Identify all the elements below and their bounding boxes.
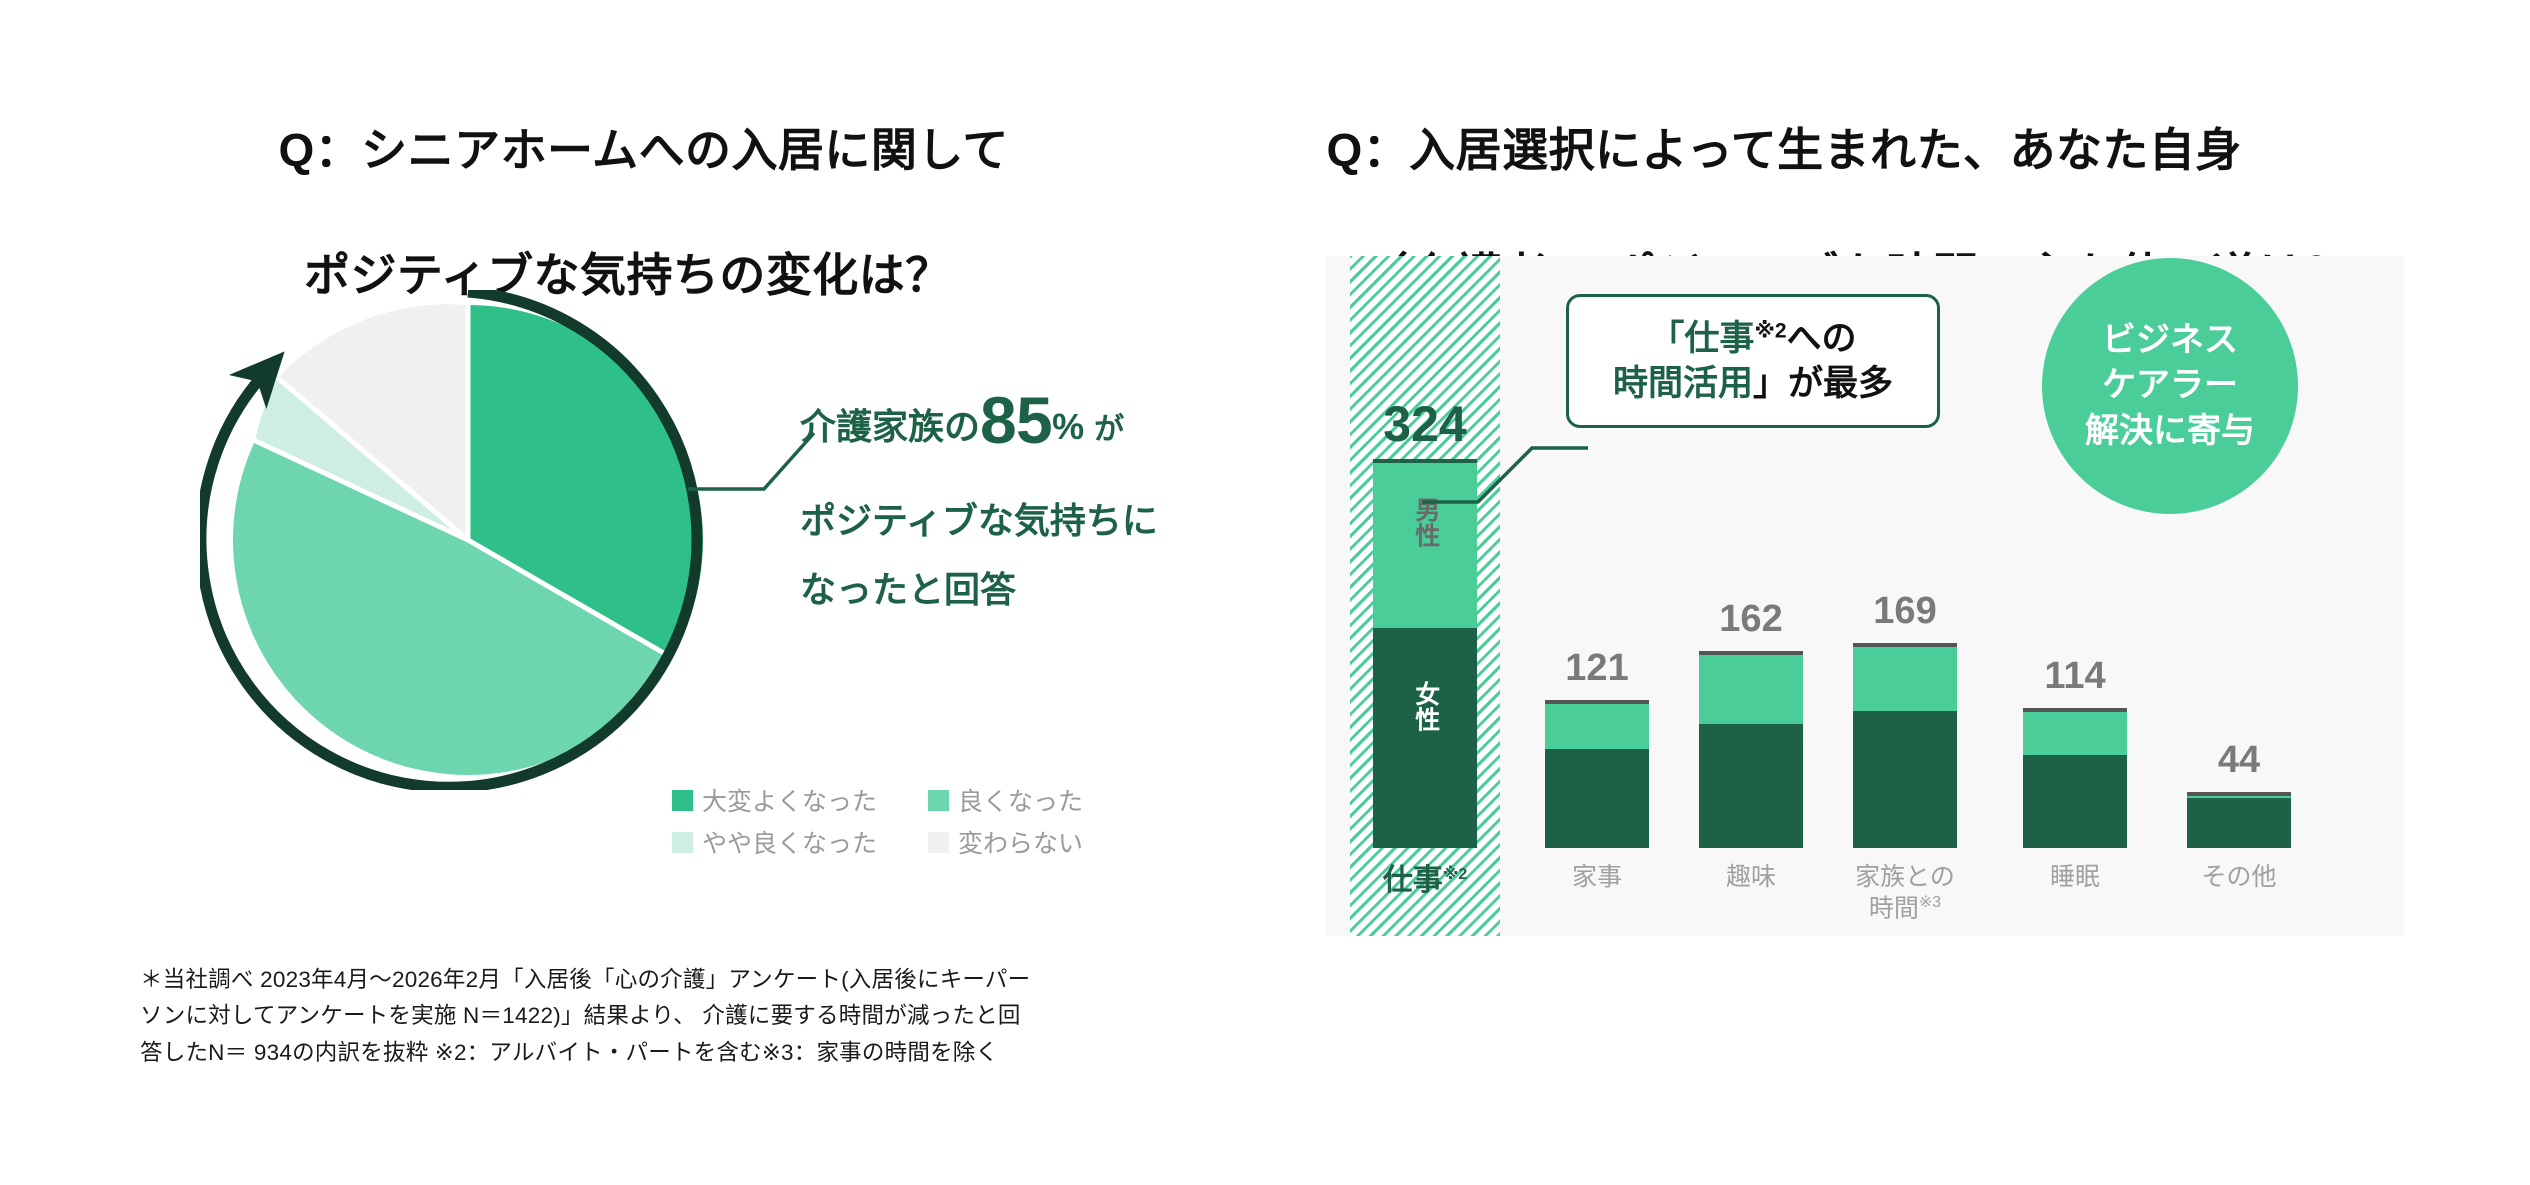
bar-category-label: 趣味 bbox=[1726, 862, 1776, 936]
bar-value-label: 169 bbox=[1873, 590, 1936, 633]
badge-line-2: ケアラー bbox=[2102, 363, 2238, 409]
bar-segment-male bbox=[1545, 704, 1649, 749]
legend-item-slightly-improved: やや良くなった bbox=[672, 824, 896, 860]
annotation-suffix: が bbox=[1094, 413, 1124, 446]
bar-segment-male bbox=[1699, 655, 1803, 724]
legend-item-unchanged: 変わらない bbox=[928, 824, 1102, 860]
bar-stack bbox=[1545, 704, 1649, 848]
pie-legend: 大変よくなった 良くなった やや良くなった 変わらない bbox=[672, 782, 1102, 860]
badge-line-1: ビジネス bbox=[2102, 318, 2238, 364]
legend-swatch-unchanged bbox=[928, 832, 949, 853]
annotation-big-number: 85 bbox=[980, 383, 1052, 457]
legend-label-unchanged: 変わらない bbox=[958, 824, 1083, 860]
circle-badge: ビジネス ケアラー 解決に寄与 bbox=[2042, 258, 2298, 514]
legend-item-very-improved: 大変よくなった bbox=[672, 782, 896, 818]
legend-swatch-slightly-improved bbox=[672, 832, 693, 853]
bar-segment-female bbox=[1545, 749, 1649, 848]
bar-segment-female bbox=[1699, 724, 1803, 848]
bar-value-label: 114 bbox=[2044, 655, 2105, 698]
footnote-line-1: ＊当社調べ 2023年4月〜2026年2月「入居後「心の介護」アンケート(入居後… bbox=[140, 962, 1260, 998]
bar-segment-female bbox=[2187, 798, 2291, 848]
legend-label-very-improved: 大変よくなった bbox=[702, 782, 877, 818]
bar-category-label: 仕事※2 bbox=[1383, 862, 1467, 936]
callout-leader-line bbox=[1420, 420, 1590, 520]
legend-swatch-very-improved bbox=[672, 790, 693, 811]
annotation-line2: ポジティブな気持ちに bbox=[800, 494, 1270, 549]
footnote-line-3: 答したN＝ 934の内訳を抜粋 ※2：アルバイト・パートを含む※3：家事の時間を… bbox=[140, 1035, 1260, 1071]
bar-segment-female: 女性 bbox=[1373, 628, 1477, 848]
callout-line1-b: への bbox=[1787, 319, 1857, 358]
callout-line-2: 時間活用」が最多 bbox=[1613, 361, 1893, 407]
bar-value-label: 44 bbox=[2218, 739, 2260, 782]
bar-column-1: 324男性女性仕事※2 bbox=[1350, 256, 1500, 936]
bar-label-footnote-marker: ※2 bbox=[1443, 866, 1467, 883]
title-right-line1: Q：入居選択によって生まれた、あなた自身 bbox=[1326, 124, 2241, 176]
footnote-line-2: ソンに対してアンケートを実施 N＝1422)」結果より、 介護に要する時間が減っ… bbox=[140, 998, 1260, 1034]
bar-stack bbox=[1699, 655, 1803, 848]
footnote: ＊当社調べ 2023年4月〜2026年2月「入居後「心の介護」アンケート(入居後… bbox=[140, 962, 1260, 1071]
bar-segment-label-female: 女性 bbox=[1411, 663, 1439, 732]
legend-swatch-improved bbox=[928, 790, 949, 811]
pie-chart-svg bbox=[200, 290, 740, 790]
callout-line2-b: 」が最多 bbox=[1753, 364, 1893, 403]
pie-chart bbox=[200, 290, 740, 790]
bar-segment-male bbox=[1853, 647, 1957, 711]
badge-line-3: 解決に寄与 bbox=[2085, 409, 2255, 455]
bar-category-label: 家族との時間※3 bbox=[1855, 862, 1955, 936]
callout-line2-a: 時間活用 bbox=[1613, 364, 1753, 403]
bar-value-label: 162 bbox=[1719, 598, 1782, 641]
annotation-prefix: 介護家族の bbox=[800, 406, 980, 447]
bar-stack: 男性女性 bbox=[1373, 463, 1477, 848]
bar-value-label: 121 bbox=[1565, 647, 1628, 690]
annotation-percent: % bbox=[1052, 406, 1084, 447]
callout-box: 「仕事※2への 時間活用」が最多 bbox=[1566, 294, 1940, 428]
annotation-line3: なったと回答 bbox=[800, 563, 1270, 618]
bar-segment-female bbox=[2023, 755, 2127, 848]
legend-label-slightly-improved: やや良くなった bbox=[702, 824, 877, 860]
bar-stack bbox=[2023, 712, 2127, 848]
bar-segment-female bbox=[1853, 711, 1957, 848]
legend-label-improved: 良くなった bbox=[958, 782, 1083, 818]
legend-item-improved: 良くなった bbox=[928, 782, 1102, 818]
pie-annotation: 介護家族の85% が ポジティブな気持ちに なったと回答 bbox=[800, 370, 1270, 618]
pie-leader-line bbox=[686, 415, 816, 495]
pie-chart-block: 介護家族の85% が ポジティブな気持ちに なったと回答 大変よくなった 良くな… bbox=[0, 0, 1290, 1185]
bar-category-label: 睡眠 bbox=[2050, 862, 2100, 936]
bar-stack bbox=[1853, 647, 1957, 848]
callout-line1-sup: ※2 bbox=[1754, 319, 1786, 342]
bar-stack bbox=[2187, 796, 2291, 848]
callout-line1-a: 「仕事 bbox=[1649, 319, 1754, 358]
callout-line-1: 「仕事※2への bbox=[1649, 316, 1856, 362]
bar-label-footnote-marker: ※3 bbox=[1919, 894, 1941, 911]
bar-category-label: 家事 bbox=[1572, 862, 1622, 936]
bar-segment-male bbox=[2023, 712, 2127, 755]
bar-category-label: その他 bbox=[2201, 862, 2276, 936]
